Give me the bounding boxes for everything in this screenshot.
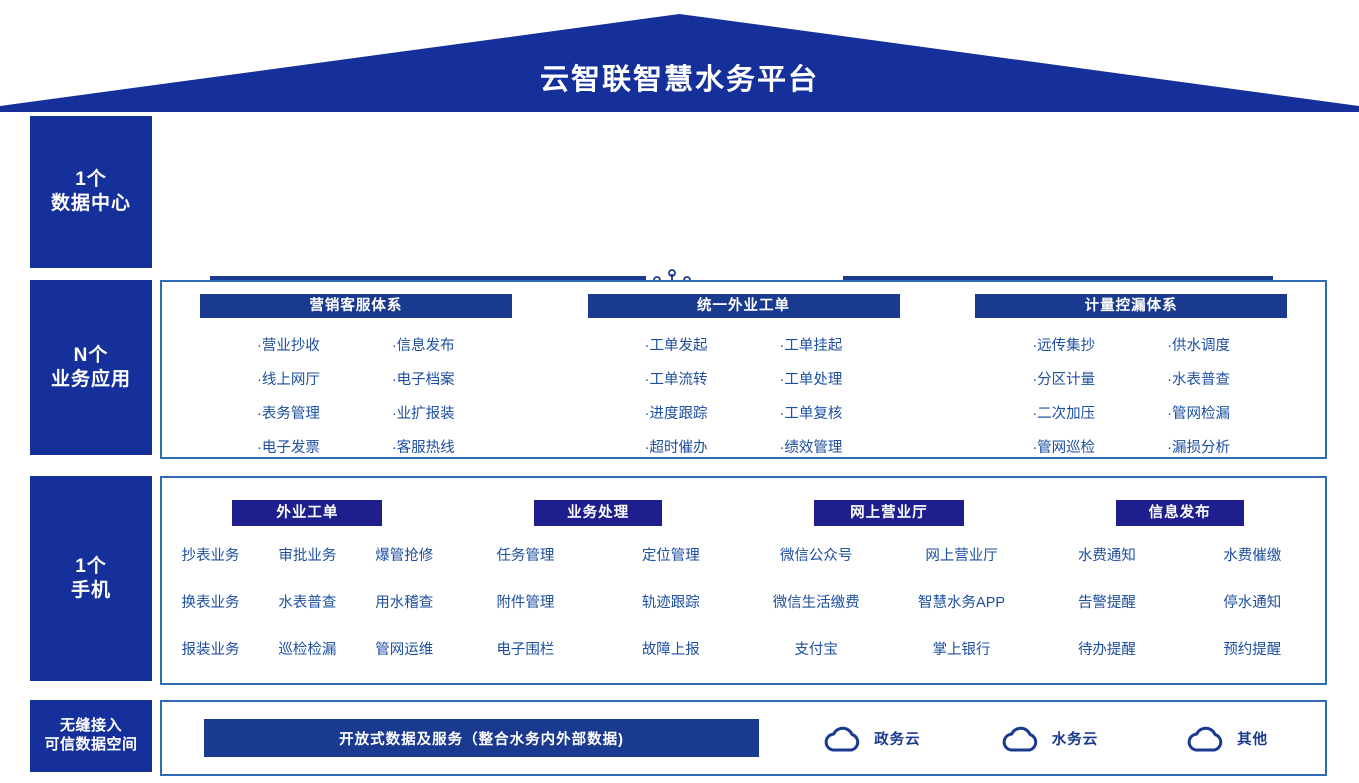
group-marketing-service-header[interactable]: 营销客服体系	[200, 294, 512, 318]
roof-banner: 云智联智慧水务平台	[0, 14, 1359, 112]
cloud-water-label: 水务云	[1052, 728, 1099, 749]
cloud-icon	[1184, 722, 1226, 754]
list-marketing-left: ·营业抄收 ·线上网厅 ·表务管理 ·电子发票	[257, 334, 320, 457]
bar-open-data-services-label: 开放式数据及服务（整合水务内外部数据)	[339, 728, 624, 749]
group-field-work-order-header[interactable]: 外业工单	[232, 500, 382, 526]
list-item[interactable]: ·漏损分析	[1167, 436, 1230, 457]
list-item[interactable]: 停水通知	[1180, 591, 1325, 612]
list-item[interactable]: 管网运维	[356, 638, 453, 659]
list-item[interactable]: 巡检检漏	[259, 638, 356, 659]
list-item[interactable]: ·表务管理	[257, 402, 320, 423]
list-item[interactable]: 微信公众号	[744, 544, 889, 565]
list-row: 支付宝 掌上银行	[744, 638, 1035, 659]
list-row: 待办提醒 预约提醒	[1034, 638, 1325, 659]
group-business-processing: 业务处理 任务管理 定位管理 附件管理 轨迹跟踪 电子围栏 故障上报	[453, 478, 744, 683]
list-row: 微信生活缴费 智慧水务APP	[744, 591, 1035, 612]
list-item[interactable]: 水表普查	[259, 591, 356, 612]
cloud-other-label: 其他	[1237, 728, 1268, 749]
cloud-icon	[999, 722, 1041, 754]
cloud-government[interactable]: 政务云	[782, 722, 960, 754]
group-unified-field-order: 统一外业工单 ·工单发起 ·工单流转 ·进度跟踪 ·超时催办 ·工单挂起 ·工单…	[550, 282, 938, 457]
list-item[interactable]: ·工单处理	[780, 368, 843, 389]
sidebar-label-trusted-data-space: 无缝接入 可信数据空间	[30, 700, 152, 772]
list-item[interactable]: ·工单流转	[645, 368, 708, 389]
list-item[interactable]: 审批业务	[259, 544, 356, 565]
list-item[interactable]: ·电子发票	[257, 436, 320, 457]
list-item[interactable]: 待办提醒	[1034, 638, 1179, 659]
group-unified-field-order-header[interactable]: 统一外业工单	[588, 294, 900, 318]
list-item[interactable]: 附件管理	[453, 591, 598, 612]
list-item[interactable]: ·远传集抄	[1032, 334, 1095, 355]
list-item[interactable]: ·工单发起	[645, 334, 708, 355]
group-metering-leakage: 计量控漏体系 ·远传集抄 ·分区计量 ·二次加压 ·管网巡检 ·供水调度 ·水表…	[937, 282, 1325, 457]
list-item[interactable]: ·电子档案	[392, 368, 455, 389]
bar-open-data-services[interactable]: 开放式数据及服务（整合水务内外部数据)	[204, 719, 759, 757]
list-field-order-right: ·工单挂起 ·工单处理 ·工单复核 ·绩效管理	[780, 334, 843, 457]
list-item[interactable]: ·进度跟踪	[645, 402, 708, 423]
list-item[interactable]: ·管网检漏	[1167, 402, 1230, 423]
group-marketing-service: 营销客服体系 ·营业抄收 ·线上网厅 ·表务管理 ·电子发票 ·信息发布 ·电子…	[162, 282, 550, 457]
group-online-hall: 网上营业厅 微信公众号 网上营业厅 微信生活缴费 智慧水务APP 支付宝 掌上银…	[744, 478, 1035, 683]
group-field-work-order: 外业工单 抄表业务 审批业务 爆管抢修 换表业务 水表普查 用水稽查 报装业务 …	[162, 478, 453, 683]
list-item[interactable]: ·绩效管理	[780, 436, 843, 457]
list-item[interactable]: 报装业务	[162, 638, 259, 659]
list-item[interactable]: 电子围栏	[453, 638, 598, 659]
panel-business-apps: 营销客服体系 ·营业抄收 ·线上网厅 ·表务管理 ·电子发票 ·信息发布 ·电子…	[160, 280, 1327, 459]
list-item[interactable]: 智慧水务APP	[889, 591, 1034, 612]
row-data-center: 水务大数据中心	[0, 116, 1359, 268]
list-item[interactable]: 水费通知	[1034, 544, 1179, 565]
list-row: 水费通知 水费催缴	[1034, 544, 1325, 565]
list-row: 微信公众号 网上营业厅	[744, 544, 1035, 565]
list-field-order-left: ·工单发起 ·工单流转 ·进度跟踪 ·超时催办	[645, 334, 708, 457]
list-item[interactable]: 定位管理	[598, 544, 743, 565]
cloud-list: 政务云 水务云 其他	[782, 702, 1315, 774]
sidebar-mobile-line1: 1个	[71, 555, 111, 579]
list-row: 换表业务 水表普查 用水稽查	[162, 591, 453, 612]
list-item[interactable]: 支付宝	[744, 638, 889, 659]
list-row: 电子围栏 故障上报	[453, 638, 744, 659]
list-item[interactable]: 换表业务	[162, 591, 259, 612]
cloud-other[interactable]: 其他	[1137, 722, 1315, 754]
list-item[interactable]: ·信息发布	[392, 334, 455, 355]
list-item[interactable]: 水费催缴	[1180, 544, 1325, 565]
list-metering-right: ·供水调度 ·水表普查 ·管网检漏 ·漏损分析	[1167, 334, 1230, 457]
list-item[interactable]: 告警提醒	[1034, 591, 1179, 612]
sidebar-mobile-line2: 手机	[71, 579, 111, 603]
sidebar-business-apps-line2: 业务应用	[51, 368, 131, 392]
list-row: 附件管理 轨迹跟踪	[453, 591, 744, 612]
sidebar-label-business-apps: N个 业务应用	[30, 280, 152, 455]
list-item[interactable]: ·工单挂起	[780, 334, 843, 355]
list-item[interactable]: ·营业抄收	[257, 334, 320, 355]
list-metering-left: ·远传集抄 ·分区计量 ·二次加压 ·管网巡检	[1032, 334, 1095, 457]
list-item[interactable]: ·供水调度	[1167, 334, 1230, 355]
group-info-publish: 信息发布 水费通知 水费催缴 告警提醒 停水通知 待办提醒 预约提醒	[1034, 478, 1325, 683]
list-item[interactable]: ·工单复核	[780, 402, 843, 423]
group-info-publish-header[interactable]: 信息发布	[1116, 500, 1244, 526]
cloud-icon	[821, 722, 863, 754]
list-item[interactable]: 预约提醒	[1180, 638, 1325, 659]
list-marketing-right: ·信息发布 ·电子档案 ·业扩报装 ·客服热线	[392, 334, 455, 457]
list-item[interactable]: ·业扩报装	[392, 402, 455, 423]
cloud-water[interactable]: 水务云	[960, 722, 1138, 754]
list-item[interactable]: ·二次加压	[1032, 402, 1095, 423]
list-item[interactable]: ·分区计量	[1032, 368, 1095, 389]
sidebar-trusted-line1: 无缝接入	[44, 717, 137, 736]
list-item[interactable]: 用水稽查	[356, 591, 453, 612]
sidebar-trusted-line2: 可信数据空间	[44, 736, 137, 755]
list-item[interactable]: 抄表业务	[162, 544, 259, 565]
list-item[interactable]: ·客服热线	[392, 436, 455, 457]
group-business-processing-header[interactable]: 业务处理	[534, 500, 662, 526]
cloud-government-label: 政务云	[874, 728, 921, 749]
list-row: 任务管理 定位管理	[453, 544, 744, 565]
panel-open-data-services: 开放式数据及服务（整合水务内外部数据) 政务云 水务云	[160, 700, 1327, 776]
list-item[interactable]: ·超时催办	[645, 436, 708, 457]
sidebar-label-mobile: 1个 手机	[30, 476, 152, 681]
list-item[interactable]: ·线上网厅	[257, 368, 320, 389]
list-item[interactable]: ·水表普查	[1167, 368, 1230, 389]
list-row: 报装业务 巡检检漏 管网运维	[162, 638, 453, 659]
list-item[interactable]: 网上营业厅	[889, 544, 1034, 565]
group-metering-leakage-header[interactable]: 计量控漏体系	[975, 294, 1287, 318]
list-row: 抄表业务 审批业务 爆管抢修	[162, 544, 453, 565]
list-row: 告警提醒 停水通知	[1034, 591, 1325, 612]
list-item[interactable]: 掌上银行	[889, 638, 1034, 659]
list-item[interactable]: 爆管抢修	[356, 544, 453, 565]
list-item[interactable]: 微信生活缴费	[744, 591, 889, 612]
group-online-hall-header[interactable]: 网上营业厅	[814, 500, 964, 526]
panel-mobile: 外业工单 抄表业务 审批业务 爆管抢修 换表业务 水表普查 用水稽查 报装业务 …	[160, 476, 1327, 685]
sidebar-business-apps-line1: N个	[51, 344, 131, 368]
list-item[interactable]: ·管网巡检	[1032, 436, 1095, 457]
list-item[interactable]: 轨迹跟踪	[598, 591, 743, 612]
list-item[interactable]: 任务管理	[453, 544, 598, 565]
list-item[interactable]: 故障上报	[598, 638, 743, 659]
